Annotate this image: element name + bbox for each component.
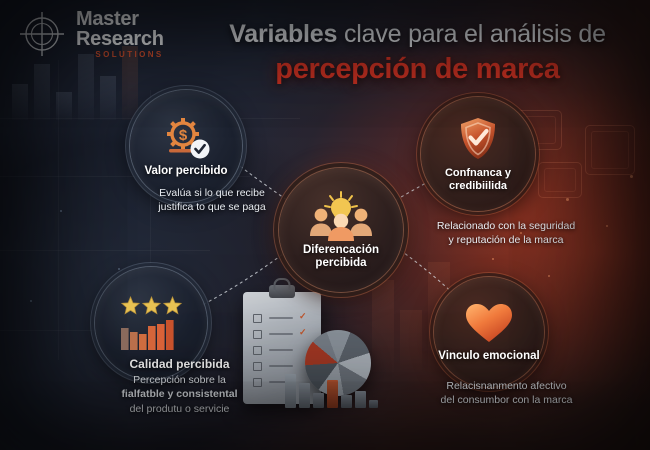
star-icon [121,296,140,315]
node-label-confianza-line1: Confnanca y [445,167,511,179]
heart-icon [464,301,514,345]
stars-bars-icon [120,296,182,350]
star-rating [121,296,182,315]
node-label-valor-percibido: Valor percibido [144,165,227,178]
svg-text:$: $ [179,127,188,144]
infographic-canvas: Master Research SOLUTIONS Variables clav… [0,0,650,450]
node-label-vinculo-emocional: Vinculo emocional [438,350,539,363]
star-icon [163,296,182,315]
node-label-confianza-line2: credibiilida [449,180,507,192]
star-icon [142,296,161,315]
lightbulb-people-icon [308,191,374,241]
ascending-bars-icon [120,318,182,350]
dollar-gear-check-icon: $ [159,115,213,161]
node-label-center-line2: percibida [315,257,366,270]
shield-check-icon [457,116,499,162]
node-label-center-line1: Diferencación [303,244,379,257]
